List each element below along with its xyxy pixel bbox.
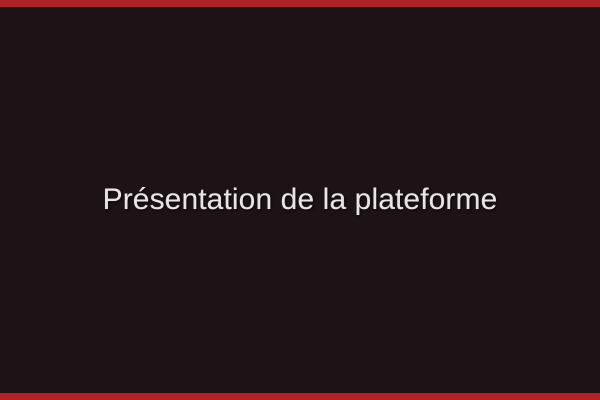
presentation-slide: Présentation de la plateforme: [0, 0, 600, 400]
slide-title: Présentation de la plateforme: [0, 183, 600, 216]
title-block: Présentation de la plateforme: [0, 183, 600, 216]
slide-content-area: Présentation de la plateforme: [0, 7, 600, 393]
bottom-accent-bar: [0, 393, 600, 400]
top-accent-bar: [0, 0, 600, 7]
